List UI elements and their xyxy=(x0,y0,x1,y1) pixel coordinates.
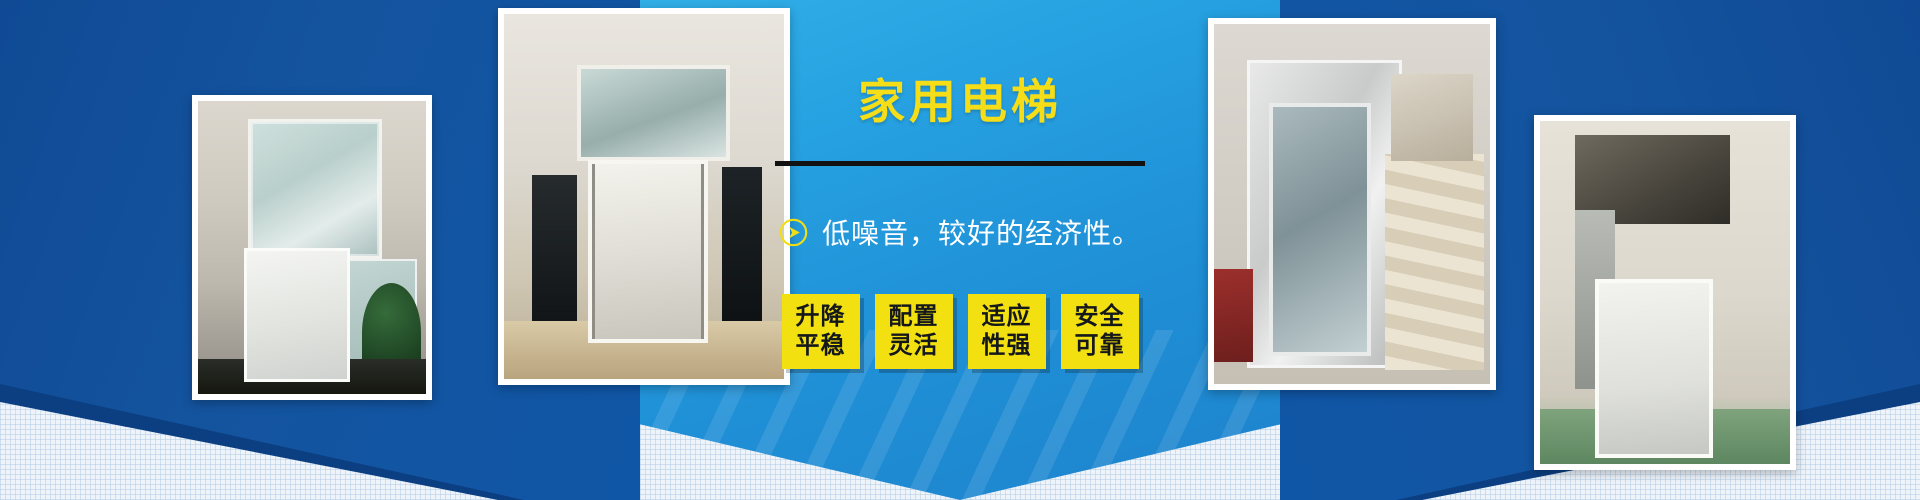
badge-line-1: 适应 xyxy=(982,304,1032,331)
feature-badge-list: 升降 平稳 配置 灵活 适应 性强 安全 可靠 xyxy=(782,294,1139,369)
badge-line-2: 平稳 xyxy=(796,333,846,360)
banner-title: 家用电梯 xyxy=(858,78,1062,125)
photo-silver-home-lift-beside-marble-stairs xyxy=(1208,18,1496,390)
photo-detail xyxy=(1391,74,1474,160)
photo-image xyxy=(1540,121,1790,464)
circled-play-arrow-icon xyxy=(779,218,808,247)
badge-line-2: 性强 xyxy=(982,333,1032,360)
badge-line-2: 可靠 xyxy=(1075,333,1125,360)
badge-line-1: 安全 xyxy=(1075,304,1125,331)
photo-unfinished-elevator-shaft-installation xyxy=(1534,115,1796,470)
photo-image xyxy=(1214,24,1490,384)
photo-image xyxy=(198,101,426,394)
badge-line-1: 升降 xyxy=(796,304,846,331)
photo-detail xyxy=(1540,409,1790,464)
photo-detail xyxy=(532,175,577,328)
photo-detail xyxy=(1575,210,1615,388)
photo-detail xyxy=(198,359,426,394)
photo-glass-hoistway-home-lift-with-plant xyxy=(192,95,432,400)
feature-badge: 配置 灵活 xyxy=(875,294,953,369)
feature-badge: 适应 性强 xyxy=(968,294,1046,369)
badge-line-1: 配置 xyxy=(889,304,939,331)
badge-line-2: 灵活 xyxy=(889,333,939,360)
title-divider xyxy=(775,161,1145,166)
banner-content: 家用电梯 低噪音，较好的经济性。 升降 平稳 配置 灵活 适应 性强 xyxy=(680,0,1240,500)
banner-tagline: 低噪音，较好的经济性。 xyxy=(779,212,1141,252)
feature-badge: 安全 可靠 xyxy=(1061,294,1139,369)
photo-detail xyxy=(1385,154,1484,370)
tagline-text: 低噪音，较好的经济性。 xyxy=(822,212,1141,252)
home-elevator-banner: 家用电梯 低噪音，较好的经济性。 升降 平稳 配置 灵活 适应 性强 xyxy=(0,0,1920,500)
feature-badge: 升降 平稳 xyxy=(782,294,860,369)
